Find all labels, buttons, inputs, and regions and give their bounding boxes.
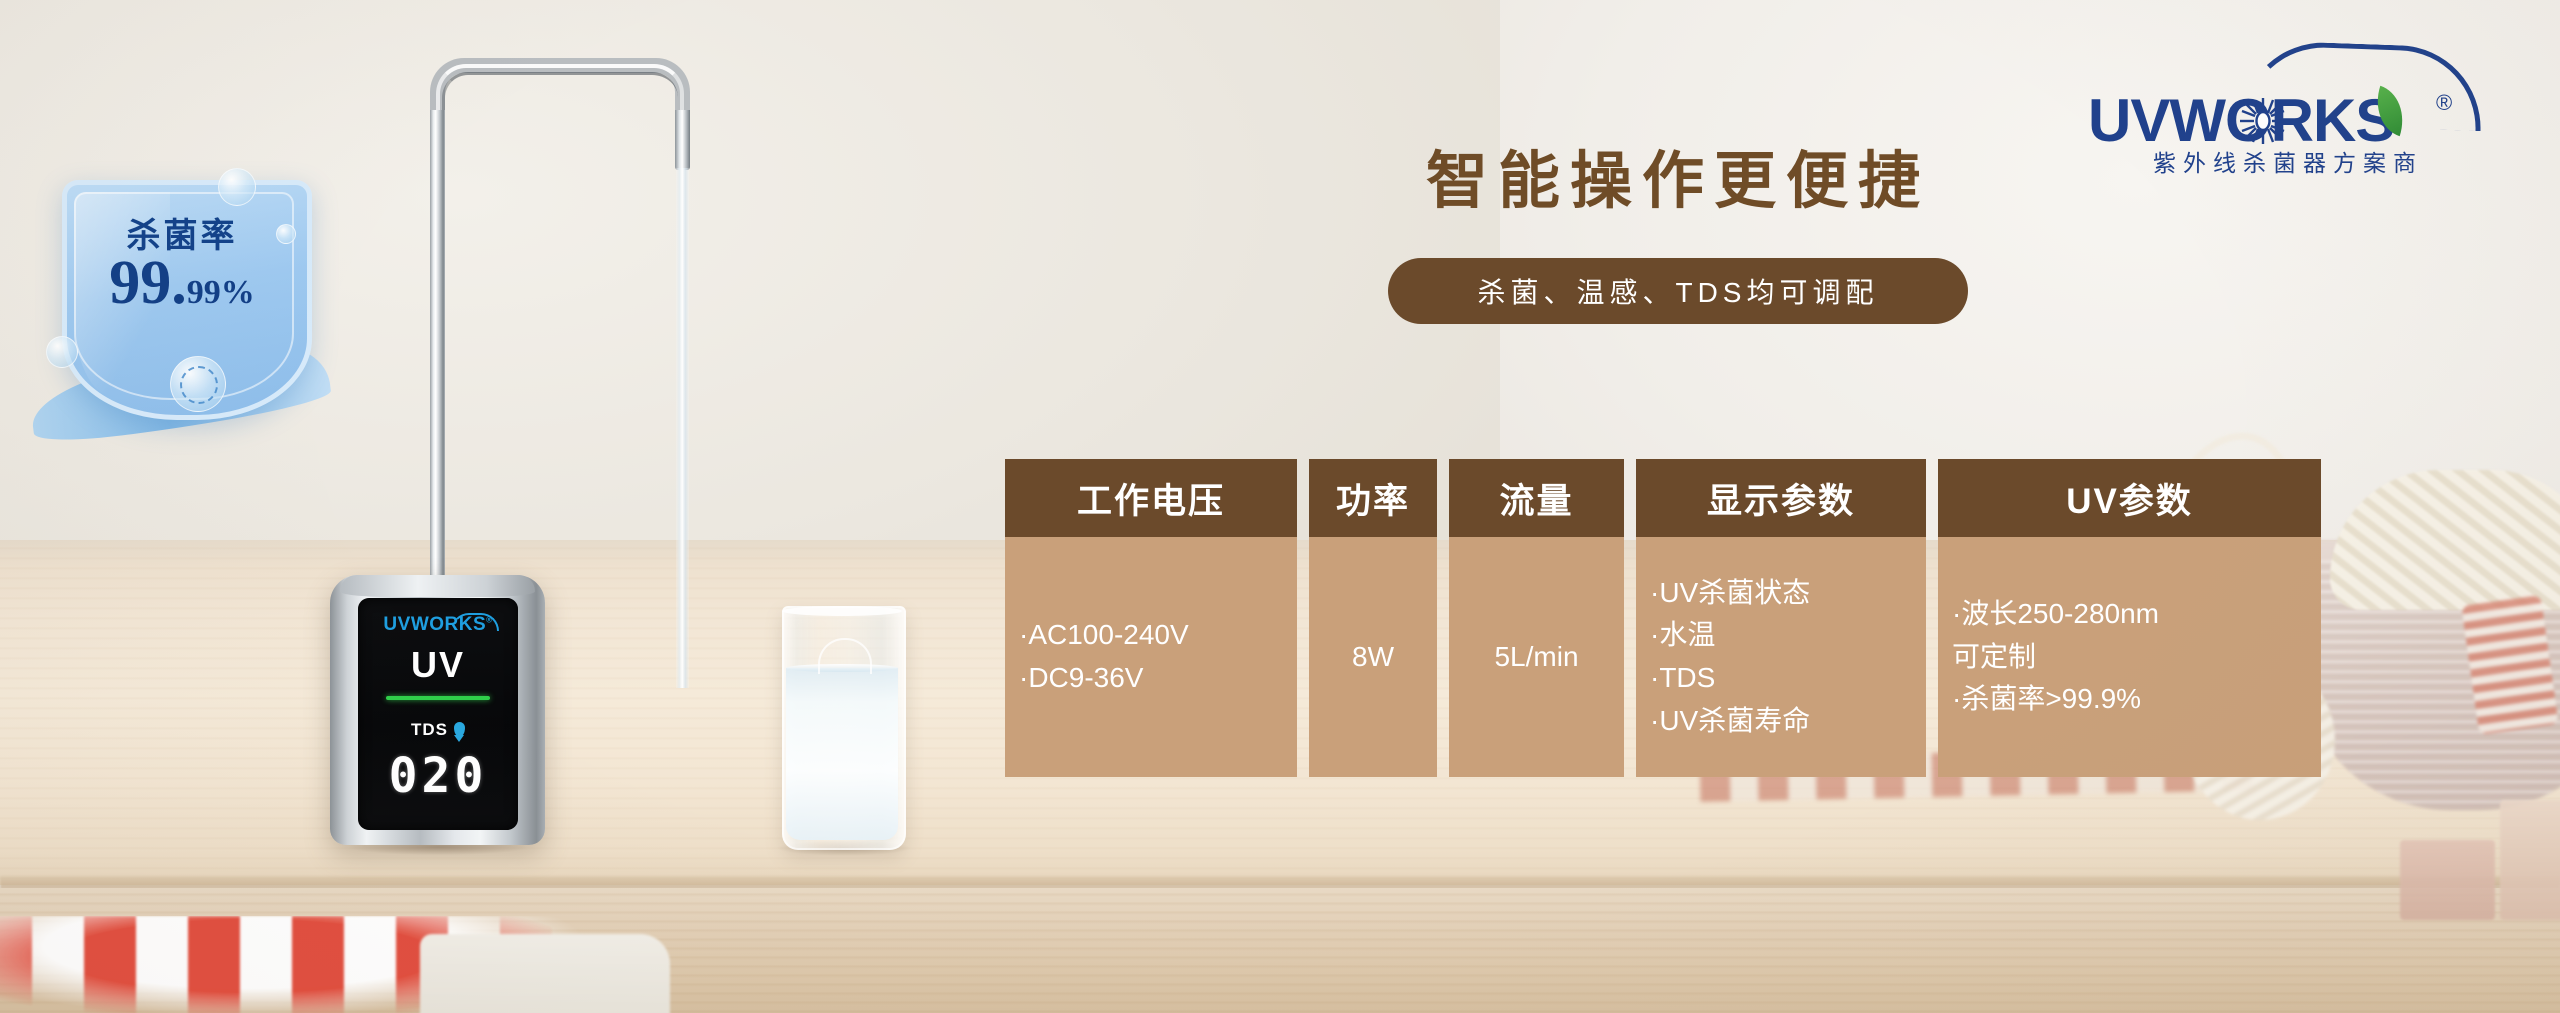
water-stream [676,168,689,688]
page-title: 智能操作更便捷 [1368,130,1988,220]
spec-line: 8W [1352,636,1394,679]
spec-header-5: UV参数 [1938,459,2321,537]
screen-tds-value: 020 [358,748,518,804]
logo-tagline: 紫外线杀菌器方案商 [2088,144,2488,178]
badge-value-major: 99. [109,249,187,317]
bubble-icon-1 [218,168,256,206]
spec-header-4: 显示参数 [1636,459,1926,537]
screen-tds-row: TDS [358,720,518,740]
spec-line: ·TDS [1650,657,1715,700]
spec-line: ·UV杀菌寿命 [1650,700,1810,743]
spec-cell-2: 8W [1309,537,1437,777]
sunburst-icon [2238,96,2288,146]
spec-line: 可定制 [1952,636,2036,679]
spec-cell-1: ·AC100-240V·DC9-36V [1005,537,1297,777]
screen-status-bar [386,696,490,700]
screen-registered-mark: ® [486,616,492,625]
brand-logo: UVWORKS ® 紫外线杀菌器方案商 [2088,38,2488,178]
subtitle-text: 杀菌、温感、TDS均可调配 [1477,271,1878,311]
screen-brand-logo: UVWORKS® [358,614,518,636]
wooden-block-b [2500,800,2560,920]
ceramic-plate [420,934,670,1013]
spec-header-1: 工作电压 [1005,459,1297,537]
spec-cell-5: ·波长250-280nm 可定制·杀菌率>99.9% [1938,537,2321,777]
spec-line: 5L/min [1494,636,1578,679]
screen-brand-logo-text: UVWORKS [383,614,486,635]
spec-line: ·DC9-36V [1019,657,1143,700]
banner-stage: UVWORKS® UV TDS 020 杀菌率 99.99% 智能操作更便捷 杀… [0,0,2560,1013]
spec-line: ·水温 [1650,614,1715,657]
spec-line: ·波长250-280nm [1952,593,2159,636]
wooden-block-a [2400,840,2495,920]
screen-mode-label: UV [358,644,518,686]
badge-value-minor: 99% [187,274,255,311]
uv-device-screen[interactable]: UVWORKS® UV TDS 020 [358,598,518,830]
spec-cell-3: 5L/min [1449,537,1624,777]
spec-header-3: 流量 [1449,459,1624,537]
glass-rim [782,606,902,616]
registered-mark: ® [2436,90,2452,116]
bubble-icon-2 [46,336,78,368]
spec-header-2: 功率 [1309,459,1437,537]
uv-device-top-cap [340,575,535,597]
water-drop-icon [454,722,465,737]
germ-icon [180,366,218,404]
faucet-spout [675,110,690,170]
spec-line: ·AC100-240V [1019,614,1189,657]
spec-table: 工作电压功率流量显示参数UV参数·AC100-240V·DC9-36V8W5L/… [1005,459,2303,777]
sterilization-rate-badge: 杀菌率 99.99% [40,180,330,440]
bubble-icon-4 [276,224,296,244]
badge-value: 99.99% [62,252,302,314]
glass-water-fill [786,668,898,840]
subtitle-pill: 杀菌、温感、TDS均可调配 [1388,258,1968,324]
screen-tds-label: TDS [411,720,448,739]
spec-cell-4: ·UV杀菌状态·水温·TDS·UV杀菌寿命 [1636,537,1926,777]
spec-line: ·UV杀菌状态 [1650,572,1810,615]
spec-line: ·杀菌率>99.9% [1952,678,2141,721]
faucet-column [430,110,445,590]
faucet-arm-shadow [442,72,678,112]
